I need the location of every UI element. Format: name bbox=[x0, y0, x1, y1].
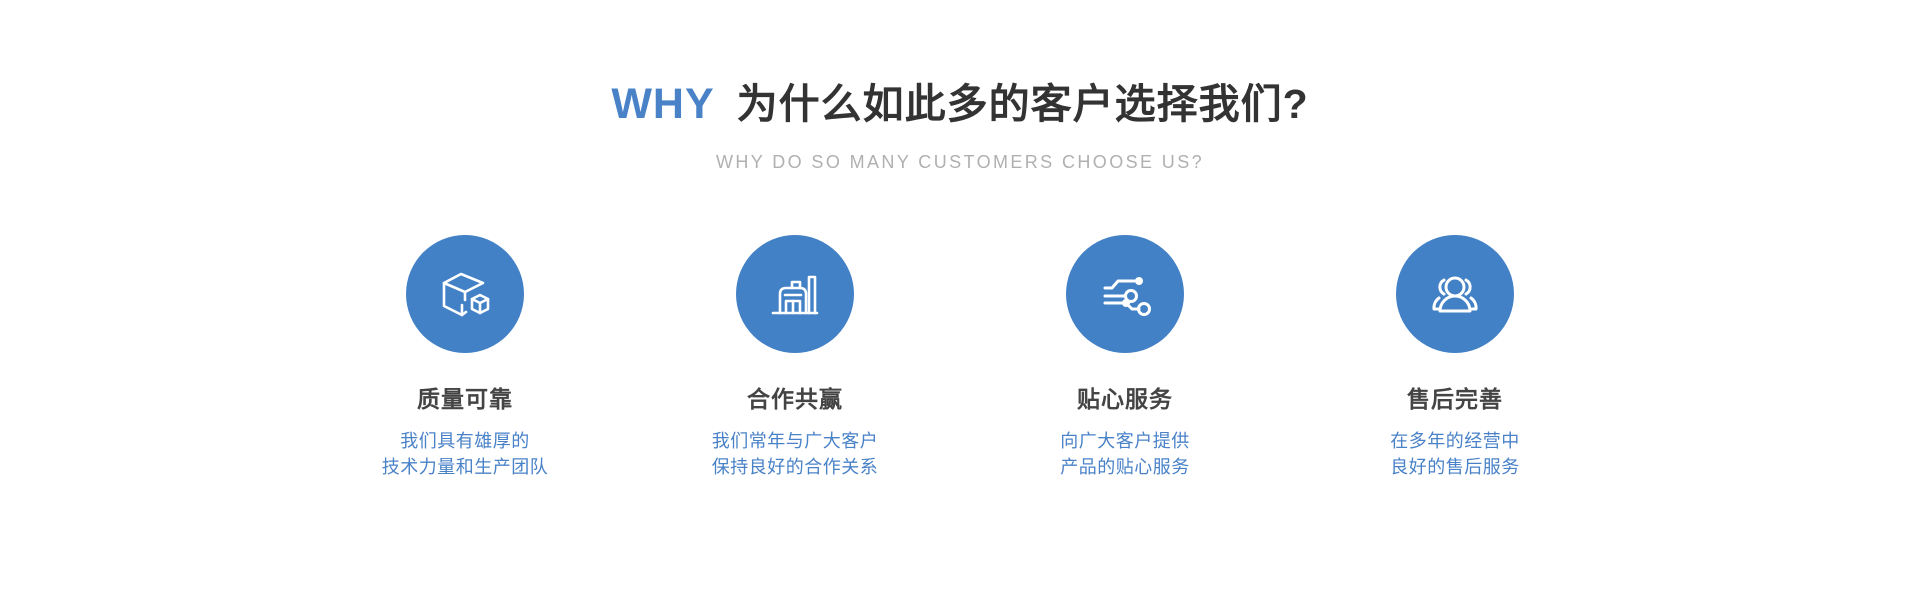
feature-card-title: 质量可靠 bbox=[417, 380, 513, 414]
why-choose-us-section: WHY 为什么如此多的客户选择我们? WHY DO SO MANY CUSTOM… bbox=[0, 0, 1920, 615]
icon-circle-cooperation bbox=[736, 235, 854, 353]
description-line: 我们常年与广大客户 bbox=[712, 428, 879, 454]
description-line: 保持良好的合作关系 bbox=[712, 454, 879, 480]
feature-card[interactable]: 合作共赢 我们常年与广大客户 保持良好的合作关系 bbox=[630, 235, 960, 480]
feature-card-description: 我们具有雄厚的 技术力量和生产团队 bbox=[382, 428, 549, 480]
feature-card-title: 合作共赢 bbox=[747, 380, 843, 414]
feature-card[interactable]: 质量可靠 我们具有雄厚的 技术力量和生产团队 bbox=[300, 235, 630, 480]
section-heading: WHY 为什么如此多的客户选择我们? bbox=[611, 70, 1308, 130]
description-line: 产品的贴心服务 bbox=[1060, 454, 1190, 480]
description-line: 技术力量和生产团队 bbox=[382, 454, 549, 480]
feature-card-description: 向广大客户提供 产品的贴心服务 bbox=[1060, 428, 1190, 480]
feature-card-title: 贴心服务 bbox=[1077, 380, 1173, 414]
heading-cn-title: 为什么如此多的客户选择我们? bbox=[737, 70, 1309, 130]
description-line: 我们具有雄厚的 bbox=[382, 428, 549, 454]
people-group-icon bbox=[1424, 263, 1486, 325]
circuit-network-icon bbox=[1094, 263, 1156, 325]
description-line: 在多年的经营中 bbox=[1390, 428, 1520, 454]
feature-card[interactable]: 贴心服务 向广大客户提供 产品的贴心服务 bbox=[960, 235, 1290, 480]
heading-en-prefix: WHY bbox=[611, 80, 714, 129]
box-package-icon bbox=[434, 263, 496, 325]
icon-circle-aftersales bbox=[1396, 235, 1514, 353]
icon-circle-service bbox=[1066, 235, 1184, 353]
icon-circle-quality bbox=[406, 235, 524, 353]
feature-card-list: 质量可靠 我们具有雄厚的 技术力量和生产团队 bbox=[300, 235, 1620, 480]
feature-card-title: 售后完善 bbox=[1407, 380, 1503, 414]
factory-icon bbox=[764, 263, 826, 325]
feature-card[interactable]: 售后完善 在多年的经营中 良好的售后服务 bbox=[1290, 235, 1620, 480]
description-line: 向广大客户提供 bbox=[1060, 428, 1190, 454]
section-subtitle: WHY DO SO MANY CUSTOMERS CHOOSE US? bbox=[716, 152, 1204, 173]
description-line: 良好的售后服务 bbox=[1390, 454, 1520, 480]
feature-card-description: 在多年的经营中 良好的售后服务 bbox=[1390, 428, 1520, 480]
feature-card-description: 我们常年与广大客户 保持良好的合作关系 bbox=[712, 428, 879, 480]
